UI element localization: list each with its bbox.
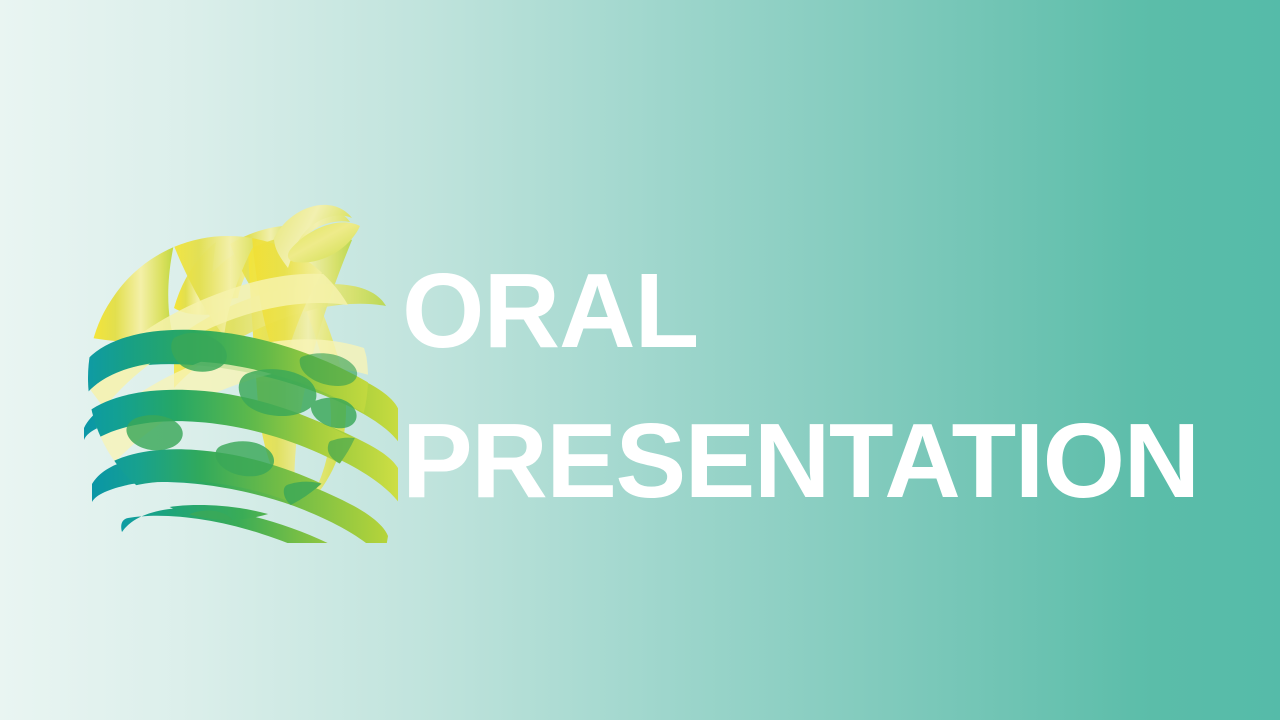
title-line-presentation: PRESENTATION — [402, 386, 1202, 536]
globe-ribbons — [74, 205, 400, 610]
presentation-slide: ORAL PRESENTATION — [0, 0, 1280, 720]
ribbon-globe-logo — [78, 188, 388, 533]
slide-title: ORAL PRESENTATION — [402, 236, 1202, 536]
leaf-icon — [274, 205, 360, 268]
title-line-oral: ORAL — [402, 236, 1202, 386]
ribbon-spiral-5 — [160, 554, 344, 610]
